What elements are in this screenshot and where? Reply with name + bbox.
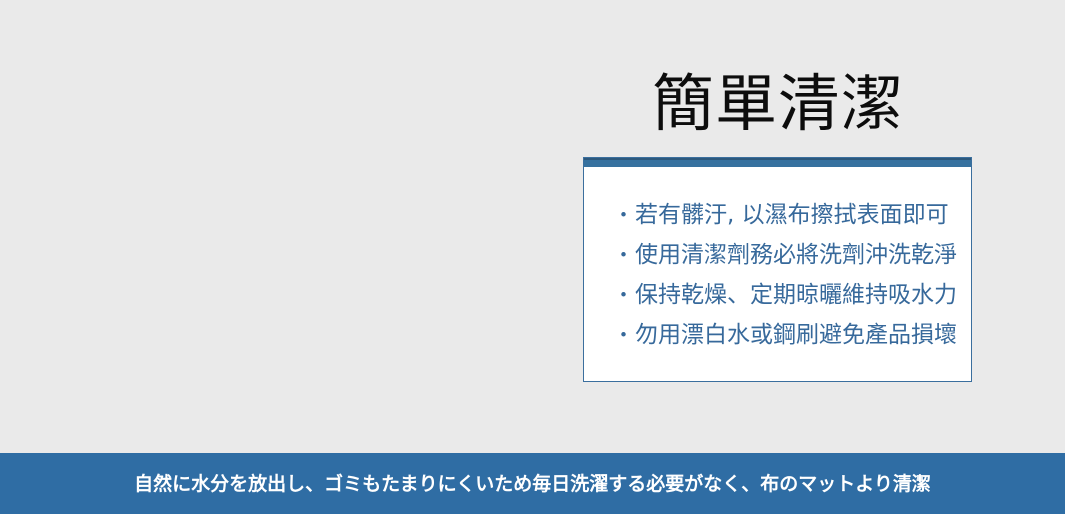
list-item-label: 使用清潔劑務必將洗劑沖洗乾淨: [635, 242, 957, 268]
cleaning-instructions-card: ・若有髒汙, 以濕布擦拭表面即可 ・使用清潔劑務必將洗劑沖洗乾淨 ・保持乾燥、定…: [583, 157, 972, 382]
banner-caption: 自然に水分を放出し、ゴミもたまりにくいため毎日洗濯する必要がなく、布のマットより…: [134, 471, 931, 497]
bullet-dot-icon: ・: [613, 315, 634, 355]
card-body: ・若有髒汙, 以濕布擦拭表面即可 ・使用清潔劑務必將洗劑沖洗乾淨 ・保持乾燥、定…: [584, 167, 971, 381]
list-item: ・使用清潔劑務必將洗劑沖洗乾淨: [613, 235, 971, 275]
bullet-dot-icon: ・: [613, 275, 634, 315]
list-item: ・勿用漂白水或鋼刷避免產品損壞: [613, 315, 971, 355]
list-item-label: 勿用漂白水或鋼刷避免產品損壞: [635, 322, 957, 348]
list-item-label: 保持乾燥、定期晾曬維持吸水力: [635, 282, 957, 308]
list-item: ・若有髒汙, 以濕布擦拭表面即可: [613, 195, 971, 235]
bullet-dot-icon: ・: [613, 235, 634, 275]
page-title: 簡單清潔: [583, 62, 973, 146]
bottom-banner: 自然に水分を放出し、ゴミもたまりにくいため毎日洗濯する必要がなく、布のマットより…: [0, 453, 1065, 514]
bullet-list: ・若有髒汙, 以濕布擦拭表面即可 ・使用清潔劑務必將洗劑沖洗乾淨 ・保持乾燥、定…: [613, 195, 971, 355]
bullet-dot-icon: ・: [613, 195, 634, 235]
card-accent-bar: [584, 158, 971, 167]
list-item-label: 若有髒汙, 以濕布擦拭表面即可: [635, 202, 949, 228]
slide-canvas: 簡單清潔 ・若有髒汙, 以濕布擦拭表面即可 ・使用清潔劑務必將洗劑沖洗乾淨 ・保…: [0, 0, 1065, 514]
list-item: ・保持乾燥、定期晾曬維持吸水力: [613, 275, 971, 315]
